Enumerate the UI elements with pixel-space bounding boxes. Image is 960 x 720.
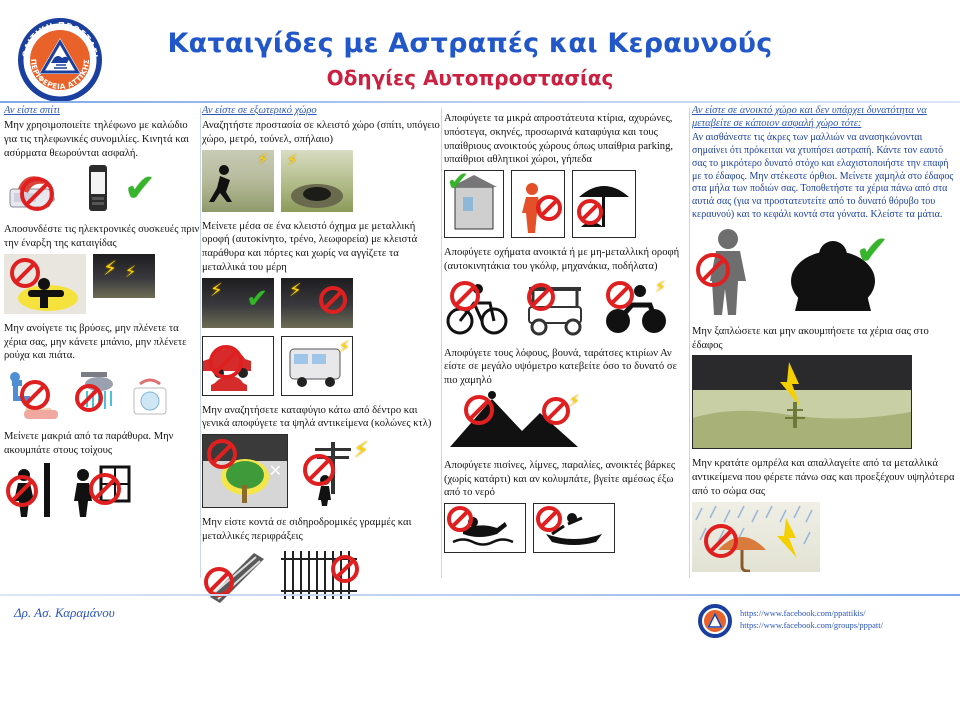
no-entry-icon <box>89 473 121 505</box>
bicycle-icon <box>444 277 510 339</box>
column-home: Αν είστε σπίτι Μην χρησιμοποιείτε τηλέφω… <box>4 104 202 590</box>
car-unsafe-photo: ⚡ <box>281 278 353 328</box>
figure-group-phone: ✔ <box>4 163 202 218</box>
dishes-laundry-icon <box>128 366 172 422</box>
figure-group-vehicle: ⚡ ✔ ⚡ <box>202 278 442 331</box>
tip-water-text: Μην ανοίγετε τις βρύσες, μην πλένετε τα … <box>4 322 202 363</box>
facebook-page-link[interactable]: https://www.facebook.com/ppattikis/ <box>740 607 883 619</box>
check-icon: ✔ <box>447 170 469 195</box>
tip-open-vehicles-text: Αποφύγετε οχήματα ανοικτά ή με μη-μεταλλ… <box>444 246 690 274</box>
column-home-heading: Αν είστε σπίτι <box>4 104 202 117</box>
content-area: Αν είστε σπίτι Μην χρησιμοποιείτε τηλέφω… <box>0 104 960 590</box>
column-outdoor-heading: Αν είστε σε εξωτερικό χώρο <box>202 104 442 117</box>
no-entry-icon <box>464 395 494 425</box>
utility-pole-icon: ⚡ <box>295 434 373 506</box>
tip-shelter-text: Αναζητήστε προστασία σε κλειστό χώρο (σπ… <box>202 119 442 147</box>
electrocution-pictogram <box>4 254 86 314</box>
column-avoid: Αποφύγετε τα μικρά απροστάτευτα κτίρια, … <box>444 104 690 590</box>
figure-group-no-umbrella <box>692 502 956 575</box>
figure-group-hills: ⚡ <box>444 391 690 454</box>
no-entry-icon <box>319 286 347 314</box>
no-entry-icon <box>536 195 562 221</box>
tip-hills-text: Αποφύγετε τους λόφους, βουνά, ταράτσες κ… <box>444 347 690 388</box>
no-entry-icon <box>450 281 480 311</box>
header: ΠΟΛΙΤΙΚΗ ΠΡΟΣΤΑΣΙΑ ΠΕΡΙΦΕΡΕΙΑ ΑΤΤΙΚΗΣ Κα… <box>0 0 960 102</box>
no-entry-icon <box>606 281 634 309</box>
tip-no-umbrella-text: Μην κρατάτε ομπρέλα και απαλλαγείτε από … <box>692 457 956 498</box>
swimmer-icon <box>444 503 526 553</box>
no-entry-icon <box>331 555 359 583</box>
figure-group-unplug: ⚡ ⚡ <box>4 254 202 317</box>
bolt-icon: ⚡ <box>210 282 223 300</box>
column-openfield: Αν είστε σε ανοικτό χώρο και δεν υπάρχει… <box>692 104 956 590</box>
no-entry-icon <box>704 524 738 558</box>
civil-protection-logo-icon: ΠΟΛΙΤΙΚΗ ΠΡΟΣΤΑΣΙΑ ΠΕΡΙΦΕΡΕΙΑ ΑΤΤΙΚΗΣ <box>14 16 106 104</box>
bus-icon: ⚡ <box>281 336 353 396</box>
no-entry-icon <box>527 283 555 311</box>
figure-group-windows <box>4 461 202 522</box>
footer-divider <box>0 594 960 596</box>
no-entry-icon <box>696 253 730 287</box>
mobile-phone-icon <box>81 163 115 215</box>
tip-vehicle-text: Μείνετε μέσα σε ένα κλειστό όχημα με μετ… <box>202 220 442 275</box>
bolt-icon: ⚡ <box>257 152 268 167</box>
page-subtitle: Οδηγίες Αυτοπροστασίας <box>120 66 820 90</box>
no-entry-icon <box>577 199 603 225</box>
bolt-icon: ⚡ <box>655 279 666 295</box>
bolt-icon: ⚡ <box>289 282 302 300</box>
header-divider <box>0 101 960 103</box>
footer-links[interactable]: https://www.facebook.com/ppattikis/ http… <box>740 607 883 632</box>
bolt-icon: ⚡ <box>339 339 350 355</box>
tip-no-lie-text: Μην ξαπλώσετε και μην ακουμπήσετε τα χέρ… <box>692 325 956 353</box>
bolt-icon: ⚡ <box>125 264 136 280</box>
tip-crouch-text: Αν αισθάνεστε τις άκρες των μαλλιών να α… <box>692 132 956 222</box>
mountain-icon: ⚡ <box>444 391 584 451</box>
motorcycle-icon: ⚡ <box>602 277 672 339</box>
figure-group-tree: ✕ ⚡ <box>202 434 442 511</box>
page-title: Καταιγίδες με Αστραπές και Κεραυνούς <box>120 28 820 59</box>
tip-windows-text: Μείνετε μακριά από τα παράθυρα. Μην ακου… <box>4 430 202 458</box>
no-entry-icon <box>447 506 473 532</box>
lightning-strike-photo: ⚡ ⚡ <box>93 254 155 298</box>
figure-group-open-vehicles: ⚡ <box>444 277 690 342</box>
figure-group-shelter: ⚡ ⚡ <box>202 150 442 215</box>
no-entry-icon <box>10 258 40 288</box>
x-mark-icon: ✕ <box>269 461 282 480</box>
running-to-shelter-photo: ⚡ <box>202 150 274 212</box>
tip-phone-text: Μην χρησιμοποιείτε τηλέφωνο με καλώδιο γ… <box>4 119 202 160</box>
column-openfield-heading: Αν είστε σε ανοικτό χώρο και δεν υπάρχει… <box>692 104 956 130</box>
check-icon: ✔ <box>124 169 156 207</box>
shower-bath-icon <box>71 366 121 422</box>
infographic-slide: ΠΟΛΙΤΙΚΗ ΠΡΟΣΤΑΣΙΑ ΠΕΡΙΦΕΡΕΙΑ ΑΤΤΙΚΗΣ Κα… <box>0 0 960 720</box>
tip-unplug-text: Αποσυνδέστε τις ηλεκτρονικές συσκευές πρ… <box>4 223 202 251</box>
footer-logo-icon <box>698 604 732 638</box>
facebook-group-link[interactable]: https://www.facebook.com/groups/pppatt/ <box>740 619 883 631</box>
corded-phone-icon <box>4 163 74 215</box>
figure-group-cars: ⚡ <box>202 336 442 399</box>
author-credit: Δρ. Ασ. Καραμάνου <box>14 605 115 621</box>
tip-rails-text: Μην είστε κοντά σε σιδηροδρομικές γραμμέ… <box>202 516 442 544</box>
umbrella-rain-icon <box>692 502 820 572</box>
crouched-person-correct-icon: ✔ <box>779 225 889 317</box>
cave-shelter-photo: ⚡ <box>281 150 353 212</box>
car-safe-photo: ⚡ ✔ <box>202 278 274 328</box>
golf-cart-icon <box>517 277 595 339</box>
figure-group-rails <box>202 547 442 606</box>
no-entry-icon <box>303 454 335 486</box>
no-entry-icon <box>6 475 38 507</box>
no-entry-icon <box>204 567 234 597</box>
lying-person-field-photo <box>692 355 912 449</box>
check-icon: ✔ <box>246 286 268 312</box>
no-entry-icon <box>536 506 562 532</box>
faucet-handwash-icon <box>4 366 64 422</box>
person-field-icon <box>511 170 565 238</box>
figure-group-water <box>4 366 202 425</box>
parasol-tent-icon <box>572 170 636 238</box>
figure-group-buildings: ✔ <box>444 170 690 241</box>
person-near-wall-icon <box>4 461 60 519</box>
standing-person-wrong-icon <box>692 225 772 317</box>
bolt-icon: ⚡ <box>287 153 298 168</box>
check-icon: ✔ <box>855 231 889 271</box>
tip-small-buildings-text: Αποφύγετε τα μικρά απροστάτευτα κτίρια, … <box>444 112 690 167</box>
check-ok-phone: ✔ <box>122 163 164 215</box>
column-outdoor: Αν είστε σε εξωτερικό χώρο Αναζητήστε πρ… <box>202 104 442 590</box>
no-entry-icon <box>209 345 243 379</box>
person-near-window-icon <box>67 461 133 519</box>
tree-shelter-photo: ✕ <box>202 434 288 508</box>
figure-group-water-bodies <box>444 503 690 556</box>
figure-group-crouch: ✔ <box>692 225 956 320</box>
shed-icon: ✔ <box>444 170 504 238</box>
tip-water-bodies-text: Αποφύγετε πισίνες, λίμνες, παραλίες, ανο… <box>444 459 690 500</box>
figure-group-no-lie <box>692 355 956 452</box>
bolt-icon: ⚡ <box>354 440 369 462</box>
bolt-icon: ⚡ <box>569 393 580 409</box>
red-cars-icon <box>202 336 274 396</box>
no-entry-icon <box>542 397 570 425</box>
tip-tree-text: Μην αναζητήσετε καταφύγιο κάτω από δέντρ… <box>202 404 442 432</box>
bolt-icon: ⚡ <box>103 258 117 278</box>
boat-rowing-icon <box>533 503 615 553</box>
